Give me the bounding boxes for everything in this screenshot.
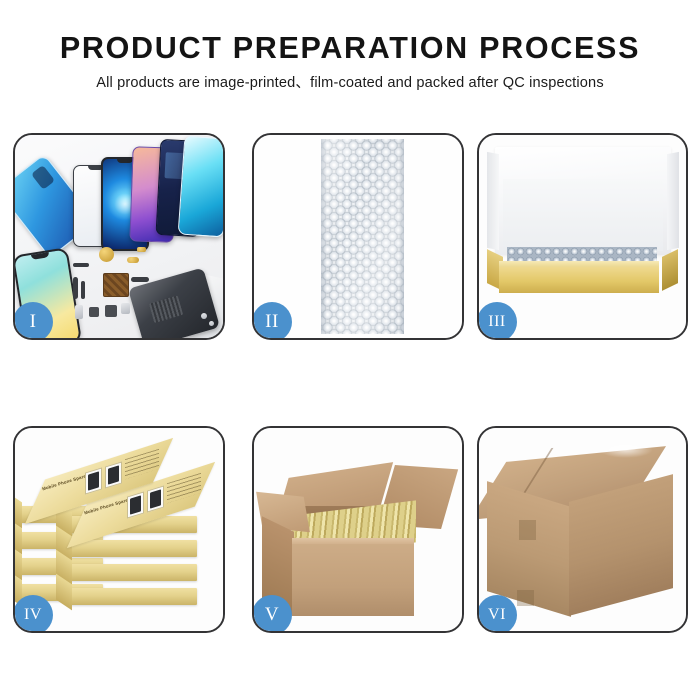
process-step-panel-4[interactable]: Mobile Phone Spare Parts Mobile Phone Sp… — [13, 426, 225, 633]
sealed-carton-highlight — [599, 442, 653, 458]
spare-part-speaker — [105, 305, 117, 317]
white-box-base-front — [499, 267, 659, 293]
phone-screen-cyan — [178, 136, 223, 238]
panel-3-image: III — [479, 135, 686, 338]
bubble-sleeve-edge-right — [398, 139, 404, 334]
sealed-carton-tab-upper — [519, 520, 536, 540]
spare-part-vibrator — [121, 303, 130, 314]
panel-6-image: VI — [479, 428, 686, 631]
spare-part-ic-chip-grid — [103, 273, 129, 297]
bubble-sleeve-edge-left — [321, 139, 327, 334]
process-step-grid: I II III — [0, 0, 700, 700]
page-header: PRODUCT PREPARATION PROCESS All products… — [0, 0, 700, 90]
process-step-panel-2[interactable]: II — [252, 133, 464, 340]
carton-body-front — [292, 544, 414, 616]
spare-part-screw-b — [209, 321, 214, 326]
step-badge-5: V — [254, 595, 292, 631]
spare-part-flex-cable — [73, 263, 89, 267]
process-step-panel-1[interactable]: I — [13, 133, 225, 340]
page-title: PRODUCT PREPARATION PROCESS — [0, 33, 700, 64]
bubble-wrap-sleeve — [321, 139, 404, 334]
spare-part-gold-coil — [99, 247, 114, 262]
spare-part-screw-set — [137, 247, 146, 252]
step-badge-3: III — [479, 302, 517, 338]
spare-part-sim-tray — [75, 305, 83, 319]
process-step-panel-5[interactable]: V — [252, 426, 464, 633]
stacked-box-front-4 — [69, 588, 197, 605]
white-box-interior — [503, 179, 663, 251]
step-badge-4: IV — [15, 595, 53, 631]
process-step-panel-6[interactable]: VI — [477, 426, 688, 633]
spare-part-screw-a — [201, 313, 207, 319]
spare-part-camera-module — [89, 307, 99, 317]
process-step-panel-3[interactable]: III — [477, 133, 688, 340]
step-badge-2: II — [254, 302, 292, 338]
stacked-box-front-3 — [69, 564, 197, 581]
spare-part-ribbon-c — [131, 277, 149, 282]
sealed-carton-tab-lower — [517, 590, 534, 606]
panel-4-image: Mobile Phone Spare Parts Mobile Phone Sp… — [15, 428, 223, 631]
step-badge-6: VI — [479, 595, 517, 631]
stacked-box-front-2 — [69, 540, 197, 557]
panel-5-image: V — [254, 428, 462, 631]
page-subtitle: All products are image-printed、film-coat… — [0, 76, 700, 91]
spare-part-gold-connector — [127, 257, 139, 263]
spare-part-ribbon-b — [81, 281, 85, 299]
spare-part-ribbon-a — [73, 277, 78, 299]
panel-2-image: II — [254, 135, 462, 338]
step-badge-1: I — [15, 302, 53, 338]
panel-1-image: I — [15, 135, 223, 338]
